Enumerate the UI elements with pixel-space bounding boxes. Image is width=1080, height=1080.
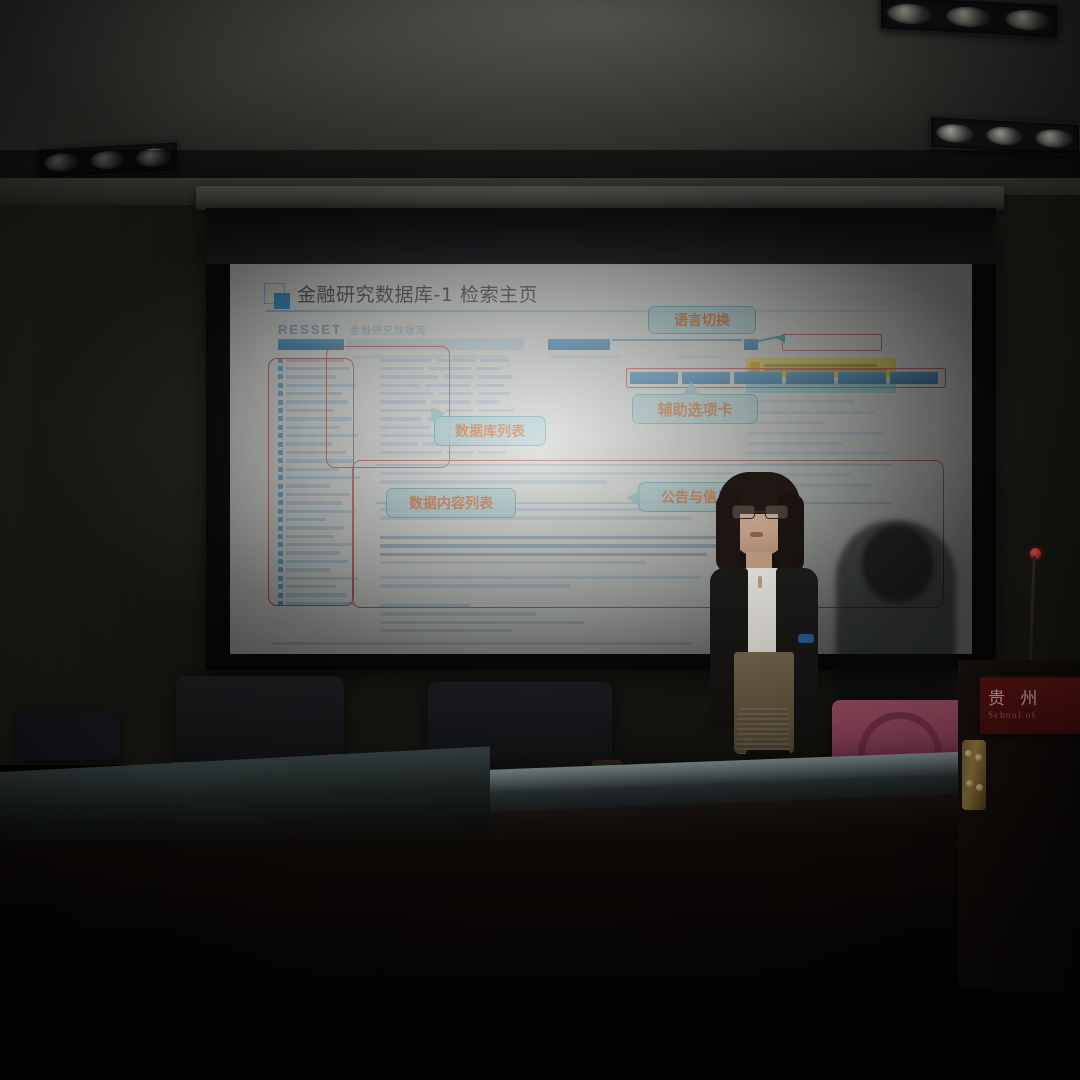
mock-search-label bbox=[548, 339, 610, 350]
foreground-dark-area bbox=[0, 840, 1080, 1080]
callout-label: 语言切换 bbox=[674, 310, 730, 330]
screen-top-band bbox=[206, 208, 996, 264]
callout-language-switch: 语言切换 bbox=[648, 306, 756, 334]
brass-stud bbox=[965, 750, 972, 757]
lamp-bulb bbox=[986, 126, 1024, 147]
brand-name: RESSET bbox=[278, 322, 342, 337]
brass-stud bbox=[976, 784, 983, 791]
list-item[interactable] bbox=[746, 452, 890, 455]
slide-title-row: 金融研究数据库-1 检索主页 bbox=[264, 280, 538, 307]
callout-database-list: 数据库列表 bbox=[434, 416, 546, 446]
callout-label: 数据内容列表 bbox=[409, 493, 493, 513]
list-item[interactable] bbox=[746, 421, 824, 424]
mouth bbox=[750, 532, 763, 537]
annotation-box-tabs bbox=[626, 368, 946, 388]
lamp-bulb bbox=[946, 6, 992, 28]
list-item[interactable] bbox=[746, 411, 875, 414]
callout-label: 辅助选项卡 bbox=[657, 399, 732, 420]
screen-valance bbox=[196, 186, 1004, 210]
title-divider bbox=[266, 310, 938, 312]
podium-banner: 贵 州 School of bbox=[980, 676, 1080, 734]
lens-right bbox=[765, 505, 788, 519]
lamp-bulb bbox=[1005, 9, 1051, 31]
slide-footer-text bbox=[272, 642, 692, 645]
lecture-hall-photo: 金融研究数据库-1 检索主页 RESSET 金融研究数据库 bbox=[0, 0, 1080, 1080]
site-logo: RESSET 金融研究数据库 bbox=[278, 322, 427, 337]
glasses-bridge bbox=[755, 511, 765, 513]
lamp-bulb bbox=[44, 153, 80, 172]
dark-bag bbox=[16, 708, 120, 760]
callout-data-content-list: 数据内容列表 bbox=[386, 488, 516, 518]
lamp-bulb bbox=[136, 148, 172, 167]
callout-arrowhead bbox=[776, 333, 785, 343]
mock-text-line bbox=[550, 355, 620, 359]
callout-auxiliary-tabs: 辅助选项卡 bbox=[632, 394, 758, 424]
list-item[interactable] bbox=[746, 432, 884, 435]
lamp-bulb bbox=[1035, 128, 1073, 149]
lamp-bulb bbox=[887, 3, 933, 25]
presenter-shadow-head bbox=[862, 525, 934, 603]
presenter bbox=[690, 472, 850, 802]
lamp-bulb bbox=[936, 123, 974, 144]
lamp-bulb bbox=[90, 150, 126, 169]
list-item[interactable] bbox=[746, 442, 842, 445]
callout-tail bbox=[682, 382, 700, 395]
skirt-texture bbox=[737, 708, 789, 754]
paragraph-block bbox=[380, 604, 680, 638]
brass-stud bbox=[975, 754, 982, 761]
badge bbox=[798, 634, 814, 643]
podium-brass-fitting bbox=[962, 740, 986, 810]
mock-text-line bbox=[676, 355, 724, 359]
search-input[interactable] bbox=[612, 339, 742, 341]
title-square-fill bbox=[274, 293, 290, 309]
lens-left bbox=[732, 505, 755, 519]
podium-banner-en: School of bbox=[988, 710, 1036, 720]
podium-banner-cn: 贵 州 bbox=[988, 684, 1042, 709]
annotation-box-language bbox=[782, 334, 882, 351]
page-title: 金融研究数据库-1 检索主页 bbox=[297, 280, 538, 307]
title-square-icon bbox=[264, 283, 285, 304]
brass-stud bbox=[966, 780, 973, 787]
brand-subtitle: 金融研究数据库 bbox=[350, 322, 427, 337]
list-item[interactable] bbox=[746, 400, 854, 403]
glasses-icon bbox=[732, 505, 788, 520]
callout-label: 数据库列表 bbox=[455, 421, 525, 441]
callout-tail bbox=[626, 490, 640, 506]
necklace bbox=[758, 576, 762, 588]
